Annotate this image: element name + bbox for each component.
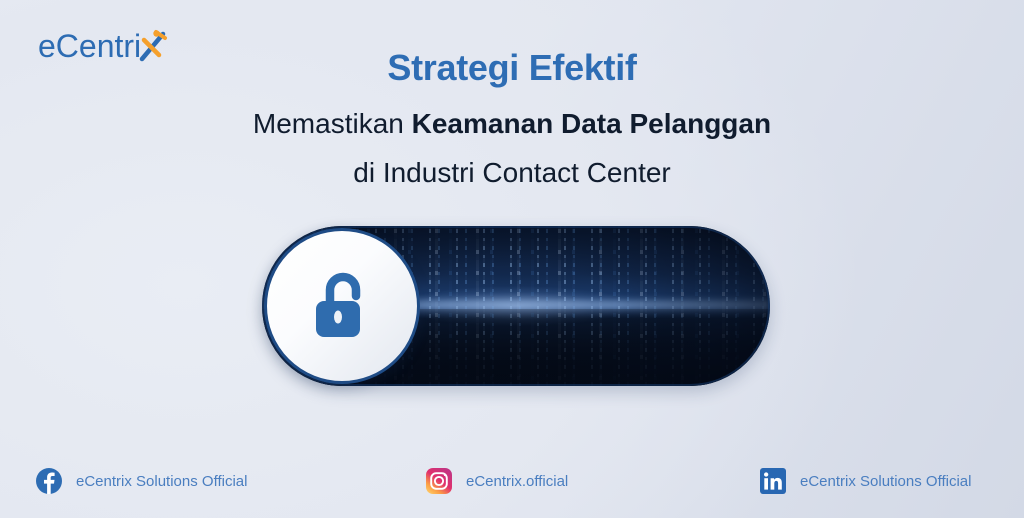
social-label-facebook[interactable]: eCentrix Solutions Official (76, 473, 247, 490)
social-label-instagram[interactable]: eCentrix.official (466, 473, 568, 490)
social-item-instagram[interactable]: eCentrix.official (426, 468, 568, 494)
instagram-icon[interactable] (426, 468, 452, 494)
ecentrix-logo: eCentri (38, 26, 178, 68)
headline-line-1: Strategi Efektif (180, 44, 844, 92)
facebook-icon[interactable] (36, 468, 62, 494)
logo-wordmark: eCentri (38, 28, 141, 64)
promo-banner: eCentri Strategi Efektif Memastikan Keam… (0, 0, 1024, 518)
logo-figure-x-icon (142, 30, 165, 59)
headline-line-3: di Industri Contact Center (180, 150, 844, 196)
social-label-linkedin[interactable]: eCentrix Solutions Official (800, 473, 971, 490)
headline-line-2: Memastikan Keamanan Data Pelanggan (180, 100, 844, 148)
toggle-knob (264, 228, 420, 384)
open-padlock-icon (310, 270, 374, 342)
headline-line-2-prefix: Memastikan (253, 108, 412, 139)
social-footer: eCentrix Solutions Official (0, 464, 1024, 498)
social-item-linkedin[interactable]: eCentrix Solutions Official (760, 468, 971, 494)
social-item-facebook[interactable]: eCentrix Solutions Official (36, 468, 247, 494)
linkedin-icon[interactable] (760, 468, 786, 494)
headline-line-2-emphasis: Keamanan Data Pelanggan (412, 108, 771, 139)
security-toggle-graphic (262, 226, 770, 386)
ecentrix-logo-mark: eCentri (38, 26, 178, 68)
headline-block: Strategi Efektif Memastikan Keamanan Dat… (180, 44, 844, 196)
